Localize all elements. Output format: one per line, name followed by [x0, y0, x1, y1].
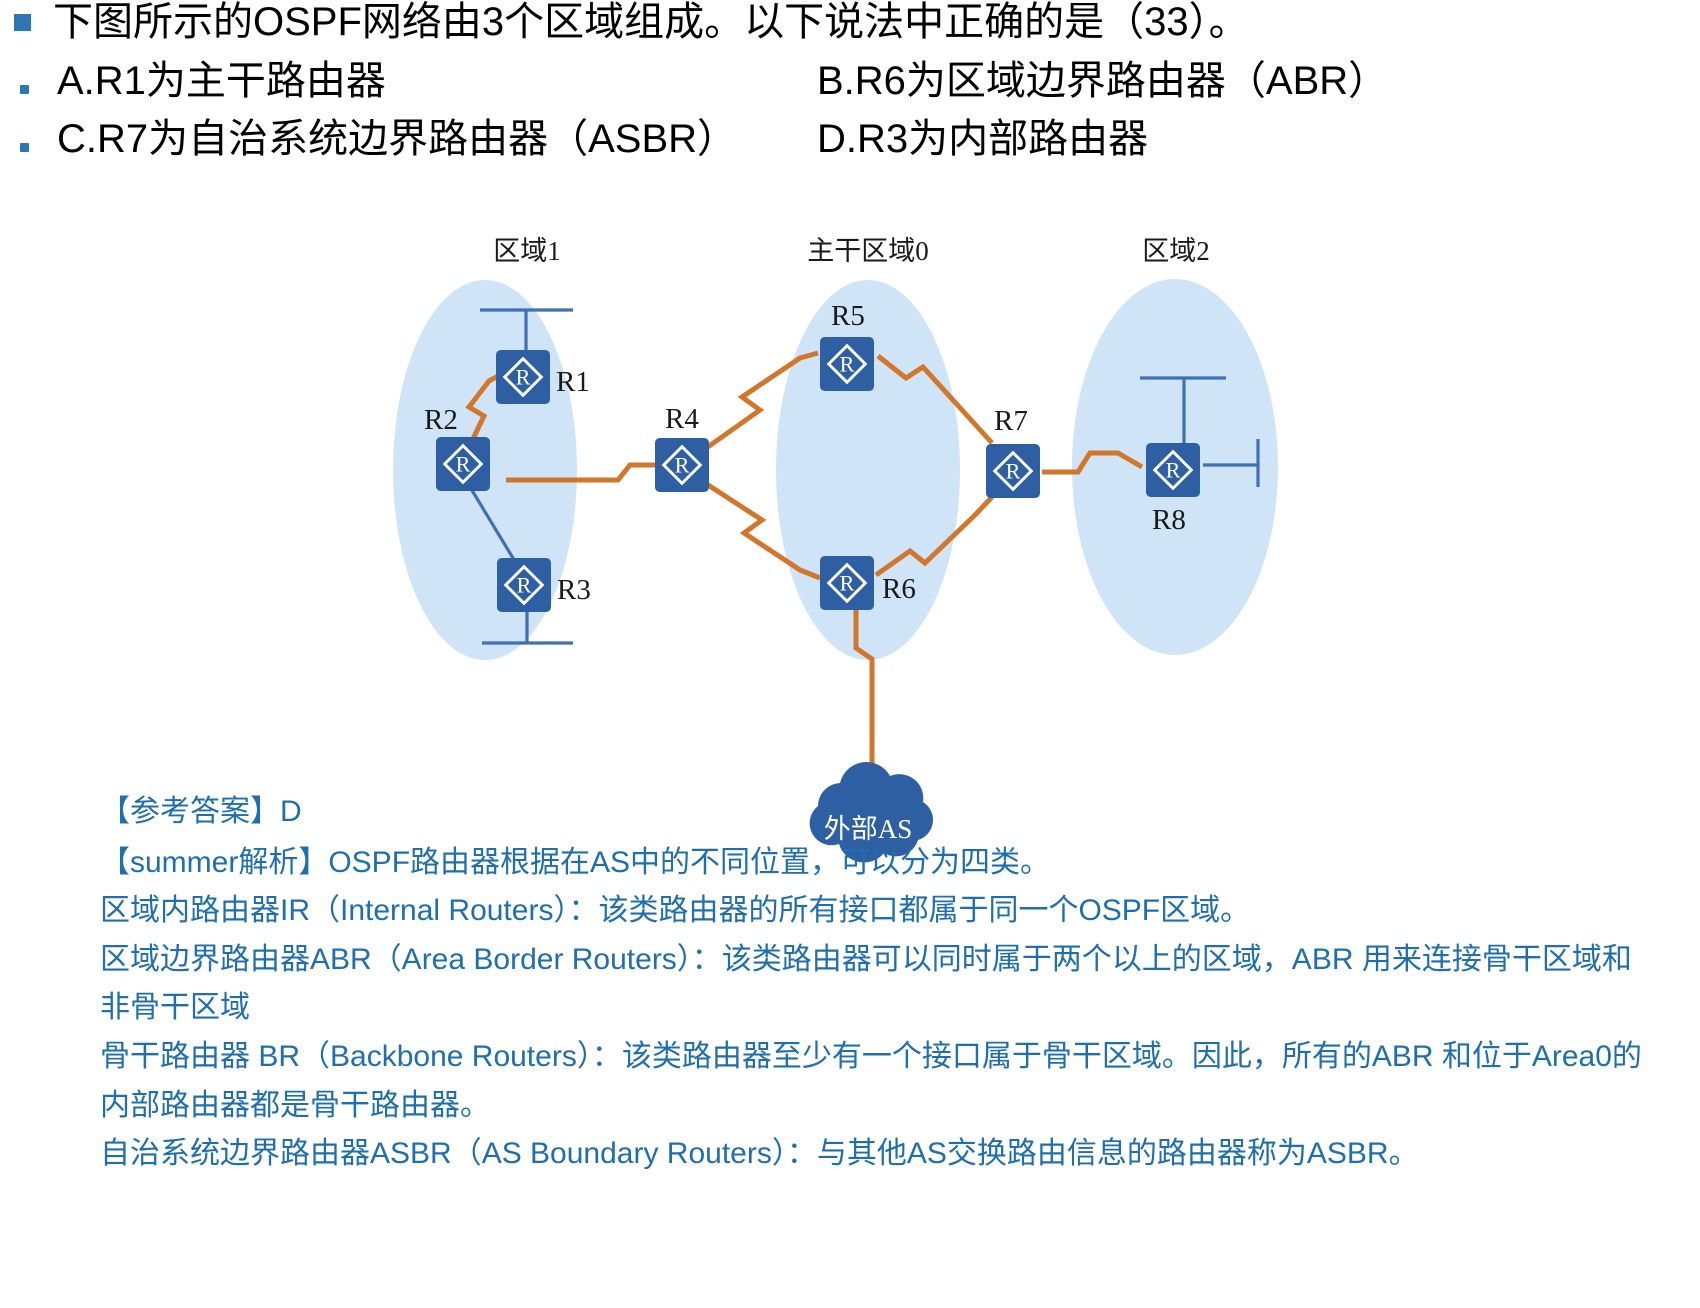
explanation-line-0: 【summer解析】OSPF路由器根据在AS中的不同位置，可以分为四类。 [100, 839, 1660, 888]
option-row-ab: A.R1为主干路由器 B.R6为区域边界路由器（ABR） [0, 59, 1700, 103]
question-stem: 下图所示的OSPF网络由3个区域组成。以下说法中正确的是（33）。 [53, 0, 1249, 45]
router-label-R1: R1 [556, 366, 590, 398]
option-d[interactable]: D.R3为内部路由器 [817, 117, 1148, 161]
router-label-R5: R5 [831, 300, 865, 332]
area-label-area1: 区域1 [493, 236, 561, 266]
area-label-area0: 主干区域0 [807, 236, 929, 266]
ospf-topology-diagram: R 区域1 主干区域0 区域2 [0, 215, 1700, 865]
router-label-R2: R2 [424, 404, 458, 436]
explanation-block: 【参考答案】D 【summer解析】OSPF路由器根据在AS中的不同位置，可以分… [100, 788, 1660, 1179]
router-node-R4[interactable]: R4 [655, 403, 709, 492]
explanation-line-4: 自治系统边界路由器ASBR（AS Boundary Routers）：与其他AS… [100, 1130, 1660, 1179]
question-stem-row: 下图所示的OSPF网络由3个区域组成。以下说法中正确的是（33）。 [0, 0, 1700, 45]
question-block: 下图所示的OSPF网络由3个区域组成。以下说法中正确的是（33）。 A.R1为主… [0, 0, 1700, 161]
router-label-R3: R3 [557, 574, 591, 606]
explanation-line-1: 区域内路由器IR（Internal Routers）：该类路由器的所有接口都属于… [100, 887, 1660, 936]
router-label-R8: R8 [1152, 504, 1186, 536]
option-b[interactable]: B.R6为区域边界路由器（ABR） [817, 59, 1388, 103]
router-label-R7: R7 [994, 405, 1028, 437]
router-label-R6: R6 [882, 573, 916, 605]
dot-bullet-icon [20, 143, 29, 152]
explanation-line-3: 骨干路由器 BR（Backbone Routers）：该类路由器至少有一个接口属… [100, 1033, 1660, 1130]
dot-bullet-icon [20, 85, 29, 94]
router-label-R4: R4 [665, 403, 699, 435]
option-c[interactable]: C.R7为自治系统边界路由器（ASBR） [57, 117, 817, 161]
area-label-area2: 区域2 [1142, 236, 1210, 266]
option-a[interactable]: A.R1为主干路由器 [57, 59, 817, 103]
reference-answer: 【参考答案】D [100, 788, 1660, 837]
router-node-R1[interactable]: R1 [496, 350, 590, 404]
square-bullet-icon [14, 14, 31, 31]
option-row-cd: C.R7为自治系统边界路由器（ASBR） D.R3为内部路由器 [0, 117, 1700, 161]
router-node-R7[interactable]: R7 [986, 405, 1040, 498]
explanation-line-2: 区域边界路由器ABR（Area Border Routers）：该类路由器可以同… [100, 936, 1660, 1033]
router-node-R3[interactable]: R3 [497, 558, 591, 612]
